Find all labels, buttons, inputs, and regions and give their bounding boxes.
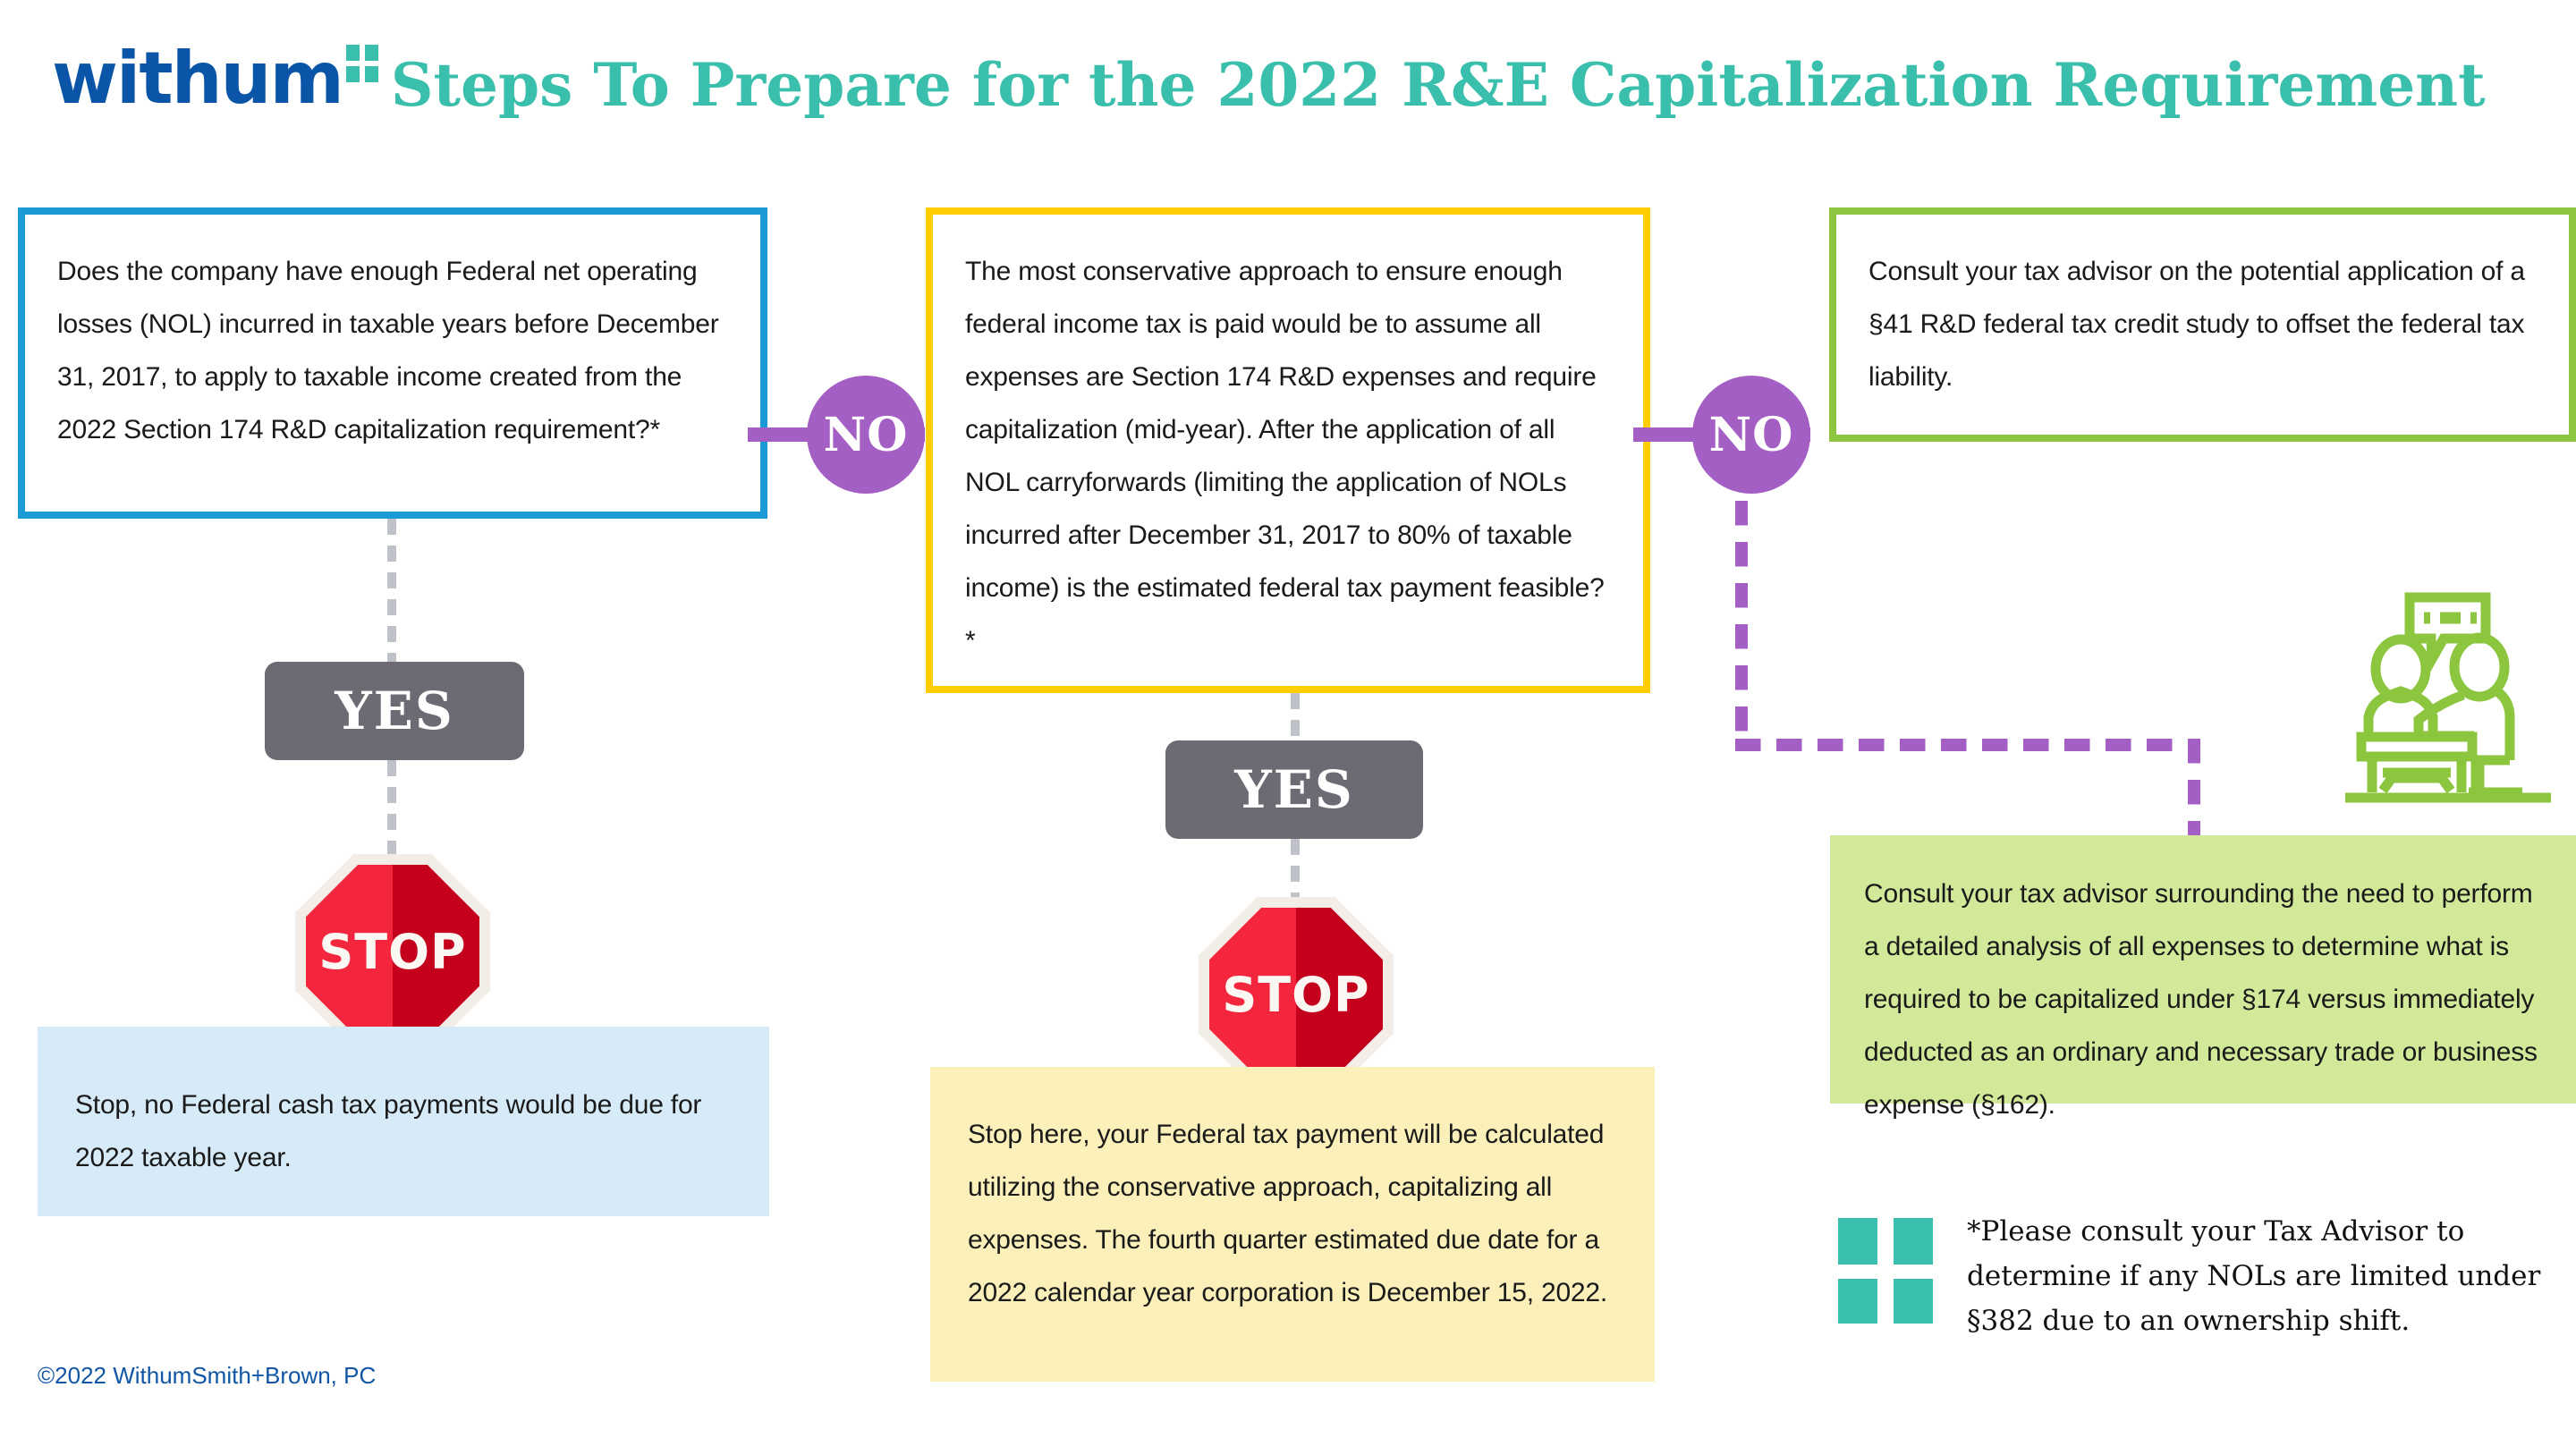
- tax-credit-study-box: Consult your tax advisor on the potentia…: [1829, 207, 2576, 442]
- footnote-text: *Please consult your Tax Advisor to dete…: [1967, 1209, 2576, 1343]
- yes-badge-1-label: YES: [335, 681, 454, 741]
- infographic-canvas: withum Steps To Prepare for the 2022 R&E…: [0, 0, 2576, 1438]
- detailed-analysis-box: Consult your tax advisor surrounding the…: [1830, 835, 2576, 1104]
- stop-here-text: Stop here, your Federal tax payment will…: [930, 1067, 1655, 1319]
- connector-blue-to-yes: [387, 519, 396, 662]
- stop-sign-2: STOP: [1199, 897, 1394, 1092]
- no-federal-cash-tax-box: Stop, no Federal cash tax payments would…: [38, 1027, 769, 1216]
- copyright-notice: ©2022 WithumSmith+Brown, PC: [38, 1362, 376, 1390]
- no-federal-cash-tax-text: Stop, no Federal cash tax payments would…: [38, 1027, 769, 1184]
- nol-question-box: Does the company have enough Federal net…: [18, 207, 767, 519]
- conservative-approach-text: The most conservative approach to ensure…: [933, 215, 1643, 667]
- no-badge-1: NO: [778, 401, 925, 467]
- stop-sign-1-label: STOP: [318, 924, 466, 980]
- dashed-connector-vertical-left: [1735, 501, 1748, 751]
- footnote: *Please consult your Tax Advisor to dete…: [1838, 1209, 2576, 1343]
- yes-badge-1: YES: [265, 662, 524, 760]
- page-title: Steps To Prepare for the 2022 R&E Capita…: [391, 55, 2486, 114]
- no-badge-1-label: NO: [824, 408, 909, 462]
- stop-sign-1: STOP: [295, 854, 490, 1049]
- dashed-connector-horizontal: [1735, 739, 2200, 751]
- yes-badge-2-label: YES: [1234, 759, 1354, 820]
- conservative-approach-box: The most conservative approach to ensure…: [926, 207, 1650, 693]
- tax-credit-study-text: Consult your tax advisor on the potentia…: [1836, 215, 2569, 403]
- withum-logo-text: withum: [52, 43, 343, 114]
- nol-question-text: Does the company have enough Federal net…: [25, 215, 760, 456]
- stop-here-box: Stop here, your Federal tax payment will…: [930, 1067, 1655, 1382]
- no-badge-2: NO: [1664, 401, 1810, 467]
- detailed-analysis-text: Consult your tax advisor surrounding the…: [1830, 835, 2576, 1131]
- stop-sign-2-label: STOP: [1222, 967, 1369, 1023]
- connector-yes-to-stop-1: [387, 760, 396, 859]
- dashed-connector-vertical-right: [2188, 739, 2200, 846]
- no-badge-2-label: NO: [1709, 408, 1794, 462]
- withum-plus-logo-icon: [346, 45, 382, 84]
- tax-advisor-consultation-illustration: [2336, 583, 2560, 807]
- yes-badge-2: YES: [1165, 740, 1423, 839]
- page-header: withum Steps To Prepare for the 2022 R&E…: [52, 43, 2486, 114]
- withum-plus-mark-icon: [1838, 1218, 1944, 1324]
